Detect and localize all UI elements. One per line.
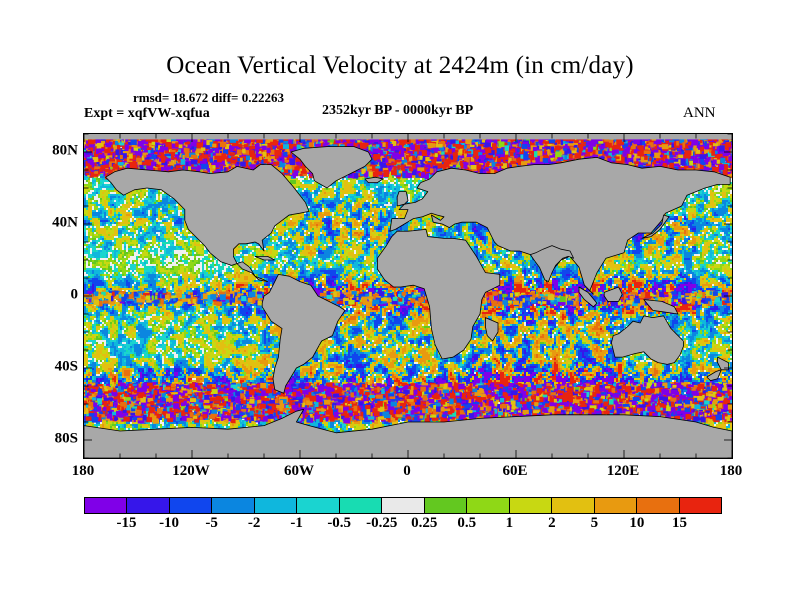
colorbar-bands — [84, 497, 722, 514]
colorbar-band — [425, 498, 467, 513]
colorbar-tick-label: -2 — [248, 516, 261, 531]
colorbar-tick-label: 5 — [591, 516, 599, 531]
longitude-tick-label: 120E — [607, 464, 640, 479]
colorbar-tick-label: -0.5 — [327, 516, 351, 531]
longitude-tick-label: 180 — [72, 464, 95, 479]
period-label: 2352kyr BP - 0000kyr BP — [322, 103, 473, 119]
colorbar-tick-label: -1 — [290, 516, 303, 531]
longitude-tick-label: 60E — [502, 464, 527, 479]
colorbar-tick-label: -0.25 — [366, 516, 397, 531]
colorbar-band — [255, 498, 297, 513]
colorbar-band — [127, 498, 169, 513]
experiment-label: Expt = xqfVW-xqfua — [84, 106, 210, 122]
colorbar-tick-label: -10 — [159, 516, 179, 531]
colorbar[interactable] — [84, 497, 722, 514]
colorbar-tick-label: -15 — [117, 516, 137, 531]
colorbar-tick-label: 15 — [672, 516, 687, 531]
colorbar-band — [680, 498, 721, 513]
longitude-tick-label: 60W — [284, 464, 314, 479]
latitude-axis: 80N40N040S80S — [30, 133, 78, 458]
colorbar-band — [170, 498, 212, 513]
longitude-axis: 180120W60W060E120E180 — [83, 464, 732, 486]
latitude-tick-label: 0 — [34, 288, 78, 303]
rmsd-statistics-label: rmsd= 18.672 diff= 0.22263 — [133, 90, 284, 106]
colorbar-tick-labels: -15-10-5-2-1-0.5-0.250.250.51251015 — [84, 516, 722, 538]
colorbar-band — [340, 498, 382, 513]
colorbar-band — [467, 498, 509, 513]
map-plot-area[interactable] — [83, 133, 733, 459]
colorbar-tick-label: -5 — [205, 516, 218, 531]
latitude-tick-label: 40S — [34, 360, 78, 375]
colorbar-band — [382, 498, 424, 513]
latitude-tick-label: 80N — [34, 144, 78, 159]
colorbar-tick-label: 0.5 — [457, 516, 476, 531]
ocean-vertical-velocity-heatmap — [84, 134, 732, 458]
longitude-tick-label: 180 — [720, 464, 743, 479]
page-title: Ocean Vertical Velocity at 2424m (in cm/… — [0, 52, 800, 80]
colorbar-band — [297, 498, 339, 513]
colorbar-band — [552, 498, 594, 513]
colorbar-tick-label: 2 — [548, 516, 556, 531]
latitude-tick-label: 40N — [34, 216, 78, 231]
colorbar-band — [637, 498, 679, 513]
colorbar-tick-label: 1 — [506, 516, 514, 531]
colorbar-band — [595, 498, 637, 513]
colorbar-band — [85, 498, 127, 513]
figure-root: Ocean Vertical Velocity at 2424m (in cm/… — [0, 0, 800, 600]
longitude-tick-label: 0 — [403, 464, 411, 479]
longitude-tick-label: 120W — [172, 464, 210, 479]
colorbar-band — [212, 498, 254, 513]
colorbar-tick-label: 0.25 — [411, 516, 437, 531]
colorbar-tick-label: 10 — [629, 516, 644, 531]
season-label: ANN — [683, 105, 716, 122]
latitude-tick-label: 80S — [34, 432, 78, 447]
colorbar-band — [510, 498, 552, 513]
